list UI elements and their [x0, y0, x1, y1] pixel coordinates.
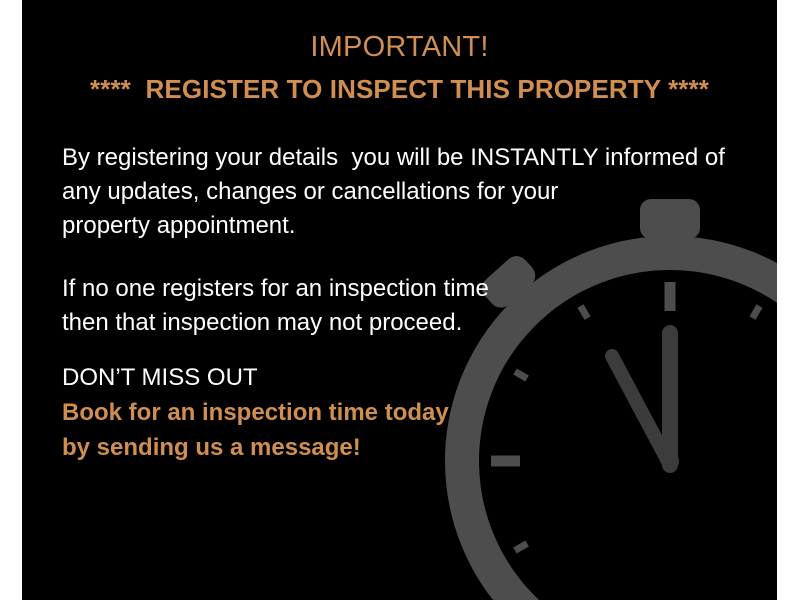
- paragraph-no-registration-line-1: If no one registers for an inspection ti…: [62, 272, 752, 306]
- cta-book-inspection: Book for an inspection time today: [62, 395, 752, 430]
- poster-content: IMPORTANT! **** REGISTER TO INSPECT THIS…: [22, 0, 777, 600]
- black-panel: IMPORTANT! **** REGISTER TO INSPECT THIS…: [22, 0, 777, 600]
- poster-canvas: IMPORTANT! **** REGISTER TO INSPECT THIS…: [0, 0, 800, 600]
- paragraph-registering-line-1: By registering your details you will be …: [62, 141, 752, 175]
- cta-send-message: by sending us a message!: [62, 430, 752, 465]
- paragraph-call-to-action: DON’T MISS OUT Book for an inspection ti…: [62, 361, 752, 465]
- headline-register: **** REGISTER TO INSPECT THIS PROPERTY *…: [22, 72, 777, 106]
- cta-dont-miss-out: DON’T MISS OUT: [62, 361, 752, 395]
- paragraph-registering-line-2: any updates, changes or cancellations fo…: [62, 175, 752, 209]
- paragraph-no-registration-line-2: then that inspection may not proceed.: [62, 306, 752, 340]
- paragraph-registering-line-3: property appointment.: [62, 209, 752, 243]
- paragraph-registering: By registering your details you will be …: [62, 141, 752, 243]
- poster-headline: IMPORTANT! **** REGISTER TO INSPECT THIS…: [22, 28, 777, 106]
- paragraph-no-registration: If no one registers for an inspection ti…: [62, 272, 752, 340]
- headline-important: IMPORTANT!: [22, 28, 777, 66]
